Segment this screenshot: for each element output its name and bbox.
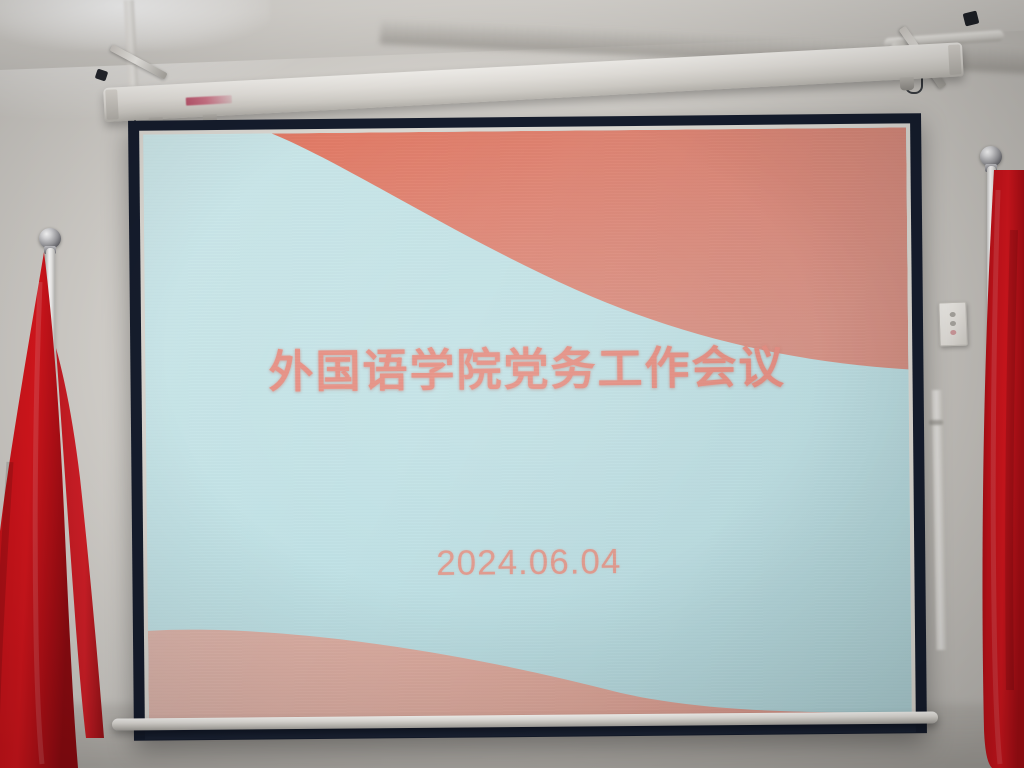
- wall-plate-button-1[interactable]: [950, 312, 956, 317]
- wall-plate-button-2[interactable]: [950, 321, 956, 326]
- casing-endcap-right: [948, 44, 962, 75]
- projection-screen[interactable]: 外国语学院党务工作会议 2024.06.04: [128, 113, 927, 741]
- casing-clip-3: [900, 77, 915, 91]
- slide-background-graphic: [143, 127, 912, 719]
- flag-finial-right-icon: [980, 146, 1002, 167]
- flag-finial-left-icon: [39, 228, 61, 249]
- casing-brand-logo-icon: [186, 95, 232, 105]
- casing-endcap-left: [105, 89, 119, 120]
- screen-inner-border: 外国语学院党务工作会议 2024.06.04: [139, 123, 916, 723]
- conference-room-photo: 外国语学院党务工作会议 2024.06.04: [0, 0, 1024, 768]
- conduit-clip: [929, 420, 943, 425]
- presentation-slide: 外国语学院党务工作会议 2024.06.04: [143, 127, 912, 719]
- flag-cloth-left: [0, 252, 116, 768]
- flag-cloth-right: [964, 170, 1024, 768]
- wall-plate-indicator: [950, 330, 956, 335]
- slide-date: 2024.06.04: [147, 540, 910, 587]
- slide-title: 外国语学院党务工作会议: [145, 329, 909, 401]
